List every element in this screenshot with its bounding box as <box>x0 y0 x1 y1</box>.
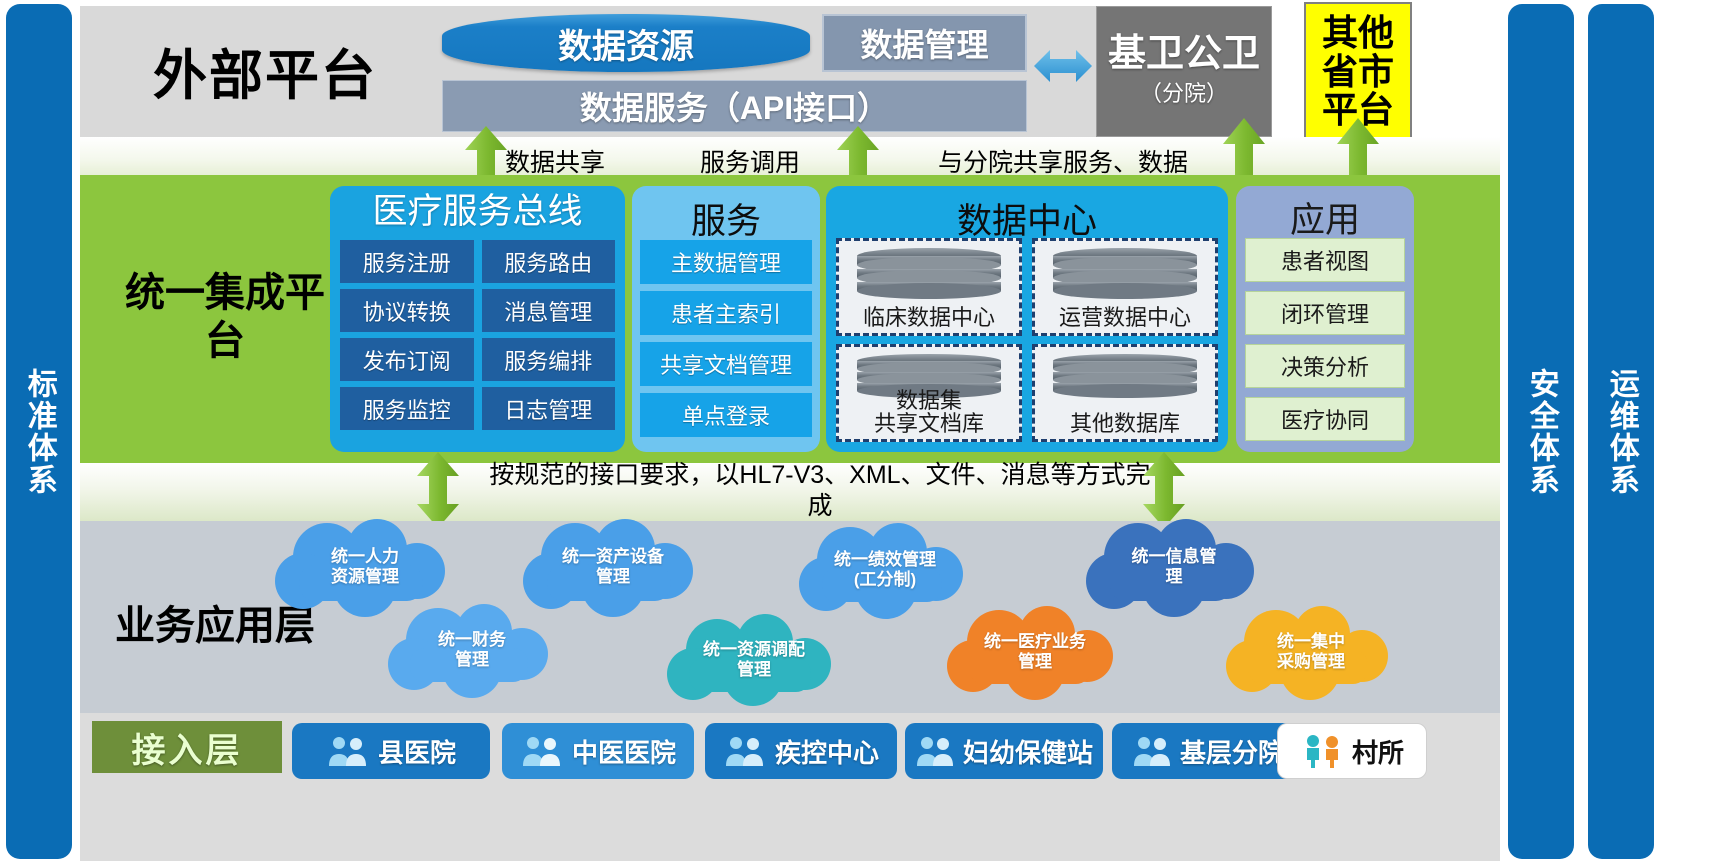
access-button-maternal-child-station-label: 妇幼保健站 <box>963 733 1093 770</box>
database-icon <box>850 247 1008 308</box>
label-data-sharing: 数据共享 <box>505 143 605 179</box>
esb-item-5[interactable]: 服务编排 <box>482 338 616 381</box>
esb-item-grid: 服务注册 服务路由 协议转换 消息管理 发布订阅 服务编排 服务监控 日志管理 <box>340 240 615 430</box>
cloud-unified-finance-management[interactable]: 统一财务 管理 <box>380 598 564 702</box>
cloud-unified-resource-allocation-management[interactable]: 统一资源调配 管理 <box>657 610 851 710</box>
database-icon <box>1046 353 1204 406</box>
cloud-unified-hr-management-label: 统一人力 资源管理 <box>265 547 465 587</box>
data-center-item-3[interactable]: 其他数据库 <box>1032 344 1218 442</box>
rail-ops-system: 运维体系 <box>1588 4 1654 859</box>
cloud-unified-centralized-procurement-management-label: 统一集中 采购管理 <box>1218 632 1404 672</box>
cloud-unified-centralized-procurement-management[interactable]: 统一集中 采购管理 <box>1218 600 1404 704</box>
branch-public-health-subtitle: （分院） <box>1140 76 1228 108</box>
service-item-3[interactable]: 单点登录 <box>640 393 812 437</box>
esb-item-6[interactable]: 服务监控 <box>340 387 474 430</box>
label-service-invocation: 服务调用 <box>700 143 800 179</box>
integration-platform-title: 统一集成平台 <box>120 262 330 372</box>
data-management-label: 数据管理 <box>860 20 988 66</box>
application-title: 应用 <box>1236 186 1414 243</box>
access-layer-title: 接入层 <box>92 721 282 773</box>
rail-standard-system: 标准体系 <box>6 4 72 859</box>
access-button-cdc-center-label: 疾控中心 <box>775 733 879 770</box>
cloud-unified-resource-allocation-management-label: 统一资源调配 管理 <box>657 640 851 680</box>
access-button-village-clinic[interactable]: 村所 <box>1277 723 1427 779</box>
data-center-title: 数据中心 <box>826 186 1228 244</box>
access-button-tcm-hospital[interactable]: 中医医院 <box>502 723 694 779</box>
cloud-unified-information-management-label: 统一信息管 理 <box>1076 547 1272 587</box>
data-service-api-label: 数据服务（API接口） <box>580 83 889 129</box>
access-button-cdc-center[interactable]: 疾控中心 <box>705 723 897 779</box>
rail-ops-system-label: 运维体系 <box>1604 368 1638 496</box>
esb-item-2[interactable]: 协议转换 <box>340 289 474 332</box>
application-panel: 应用 患者视图 闭环管理 决策分析 医疗协同 <box>1236 186 1414 452</box>
access-button-grassroots-branch[interactable]: 基层分院 <box>1112 723 1304 779</box>
service-item-1[interactable]: 患者主索引 <box>640 291 812 335</box>
people-pair-icon <box>1300 734 1346 768</box>
access-button-village-clinic-label: 村所 <box>1352 733 1404 770</box>
application-item-3[interactable]: 医疗协同 <box>1245 397 1405 441</box>
access-button-tcm-hospital-label: 中医医院 <box>572 733 676 770</box>
access-button-county-hospital-label: 县医院 <box>378 733 456 770</box>
cloud-unified-asset-equipment-management-label: 统一资产设备 管理 <box>513 547 713 587</box>
data-center-item-2[interactable]: 数据集 共享文档库 <box>836 344 1022 442</box>
access-button-county-hospital[interactable]: 县医院 <box>292 723 490 779</box>
green-arrow-up-branch <box>1222 118 1266 183</box>
rail-security-system-label: 安全体系 <box>1524 368 1558 496</box>
cloud-unified-medical-business-management[interactable]: 统一医疗业务 管理 <box>937 600 1133 704</box>
data-center-grid: 临床数据中心 运营数据中心 <box>836 238 1218 442</box>
external-platform-title: 外部平台 <box>100 20 430 120</box>
label-share-with-branch: 与分院共享服务、数据 <box>938 143 1188 179</box>
service-item-2[interactable]: 共享文档管理 <box>640 342 812 386</box>
data-management-box[interactable]: 数据管理 <box>822 14 1027 72</box>
cloud-unified-performance-management-label: 统一绩效管理 (工分制) <box>790 550 980 590</box>
esb-item-4[interactable]: 发布订阅 <box>340 338 474 381</box>
data-resource-label: 数据资源 <box>558 19 694 68</box>
branch-public-health-title: 基卫公卫 <box>1108 35 1260 75</box>
application-item-1[interactable]: 闭环管理 <box>1245 291 1405 335</box>
esb-item-1[interactable]: 服务路由 <box>482 240 616 283</box>
cloud-unified-medical-business-management-label: 统一医疗业务 管理 <box>937 632 1133 672</box>
data-center-item-2-label: 数据集 共享文档库 <box>874 389 984 435</box>
access-button-grassroots-branch-label: 基层分院 <box>1180 733 1284 770</box>
data-service-api-box[interactable]: 数据服务（API接口） <box>442 80 1027 132</box>
people-icon <box>326 735 372 767</box>
data-center-item-0[interactable]: 临床数据中心 <box>836 238 1022 336</box>
service-item-list: 主数据管理 患者主索引 共享文档管理 单点登录 <box>640 240 812 437</box>
integration-platform-title-text: 统一集成平台 <box>120 269 330 365</box>
rail-standard-system-label: 标准体系 <box>22 368 56 496</box>
application-item-2[interactable]: 决策分析 <box>1245 344 1405 388</box>
data-center-item-1[interactable]: 运营数据中心 <box>1032 238 1218 336</box>
data-center-item-1-label: 运营数据中心 <box>1059 306 1191 329</box>
data-center-panel: 数据中心 临床数 <box>826 186 1228 452</box>
application-item-0[interactable]: 患者视图 <box>1245 238 1405 282</box>
service-title: 服务 <box>632 186 820 244</box>
double-arrow-icon <box>1032 42 1094 90</box>
people-icon <box>1132 735 1174 767</box>
data-center-item-0-label: 临床数据中心 <box>863 306 995 329</box>
esb-item-3[interactable]: 消息管理 <box>482 289 616 332</box>
people-icon <box>915 735 957 767</box>
cloud-unified-finance-management-label: 统一财务 管理 <box>380 630 564 670</box>
green-arrow-up-other-province <box>1336 118 1380 183</box>
other-province-platform-label: 其他省市平台 <box>1306 14 1410 131</box>
rail-security-system: 安全体系 <box>1508 4 1574 859</box>
esb-item-7[interactable]: 日志管理 <box>482 387 616 430</box>
service-item-0[interactable]: 主数据管理 <box>640 240 812 284</box>
esb-item-0[interactable]: 服务注册 <box>340 240 474 283</box>
database-icon <box>1046 247 1204 308</box>
people-icon <box>723 735 769 767</box>
application-item-list: 患者视图 闭环管理 决策分析 医疗协同 <box>1245 238 1405 441</box>
data-resource-cylinder[interactable]: 数据资源 <box>442 14 810 72</box>
people-icon <box>520 735 566 767</box>
access-button-maternal-child-station[interactable]: 妇幼保健站 <box>905 723 1103 779</box>
esb-title: 医疗服务总线 <box>330 186 625 232</box>
esb-panel: 医疗服务总线 服务注册 服务路由 协议转换 消息管理 发布订阅 服务编排 服务监… <box>330 186 625 452</box>
data-center-item-3-label: 其他数据库 <box>1070 412 1180 435</box>
service-panel: 服务 主数据管理 患者主索引 共享文档管理 单点登录 <box>632 186 820 452</box>
